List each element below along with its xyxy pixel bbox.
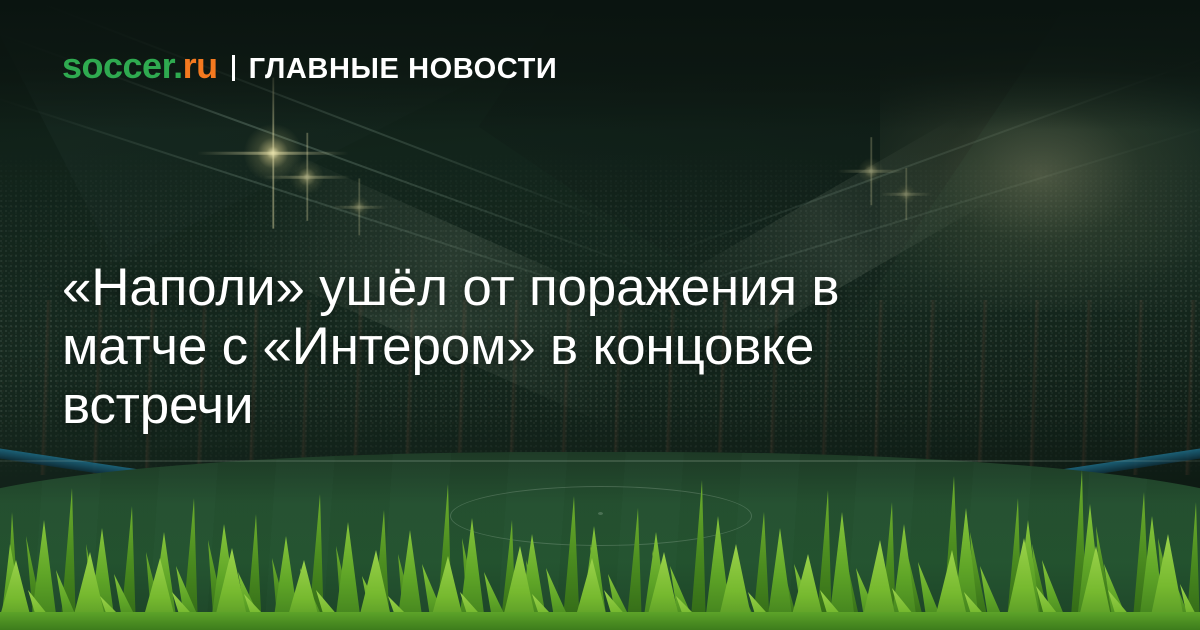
header-separator-icon — [232, 55, 235, 81]
logo-tld-part: ru — [183, 45, 218, 86]
social-share-card: soccer.ru ГЛАВНЫЕ НОВОСТИ «Наполи» ушёл … — [0, 0, 1200, 630]
floodlight-icon — [290, 160, 324, 194]
header-kicker: ГЛАВНЫЕ НОВОСТИ — [249, 55, 558, 84]
grass-foreground — [0, 440, 1200, 630]
grass-blades-icon — [0, 440, 1200, 630]
logo-name-part: soccer — [62, 45, 173, 86]
floodlight-icon — [896, 184, 916, 204]
site-logo[interactable]: soccer.ru — [62, 48, 218, 84]
logo-dot: . — [173, 45, 183, 86]
page-title: «Наполи» ушёл от поражения в матче с «Ин… — [62, 258, 992, 435]
brand-header: soccer.ru ГЛАВНЫЕ НОВОСТИ — [62, 48, 557, 84]
floodlight-icon — [858, 158, 884, 184]
floodlight-icon — [348, 196, 370, 218]
